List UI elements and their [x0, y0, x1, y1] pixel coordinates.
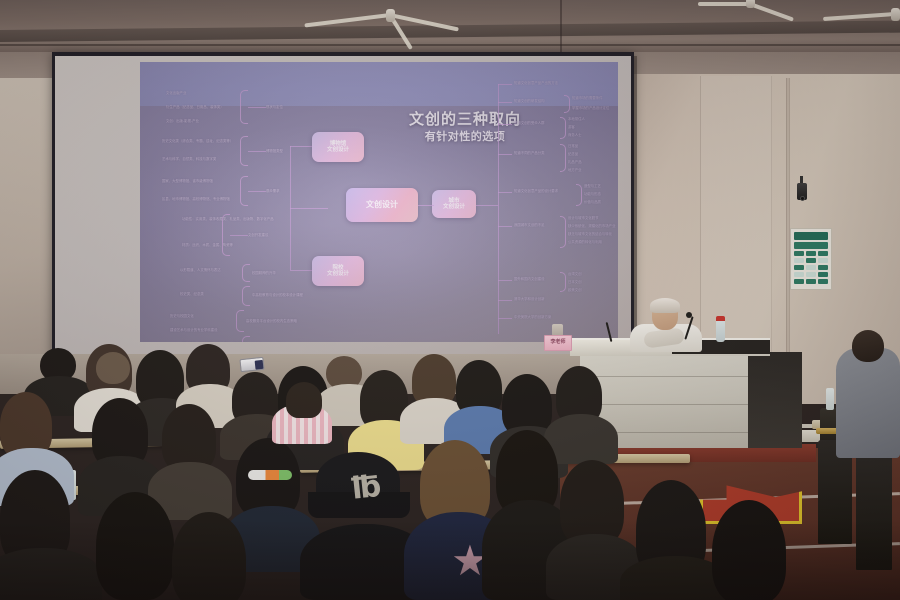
- leaf-sub: 地方产业: [568, 168, 582, 173]
- ceiling-seam-horizontal: [0, 44, 900, 46]
- connector-line: [290, 146, 312, 147]
- ceiling-fan: [820, 2, 900, 22]
- leaf-item: 我国城市文创的不足: [514, 223, 545, 228]
- connector-line: [248, 151, 266, 152]
- group-bracket: [560, 272, 566, 292]
- leaf-sub: 造型与工艺: [584, 184, 601, 189]
- audience-head: [96, 352, 130, 384]
- audience-head: [286, 382, 322, 418]
- attendee-gray-suit: [836, 348, 900, 458]
- audience-head: [172, 512, 246, 600]
- slide-title: 文创的三种取向: [350, 108, 580, 129]
- leaf-item: 衍生产品（纪念品、日用品、装饰类）: [166, 105, 224, 110]
- leaf-sub: 缺少系统化、规模化的市场产业: [568, 224, 615, 229]
- group-bracket: [242, 286, 250, 306]
- connector-line: [290, 208, 328, 209]
- connector-line: [498, 102, 512, 103]
- auditorium-seat: [856, 452, 892, 570]
- group-bracket: [560, 216, 566, 248]
- cap-logo: ℔: [350, 468, 388, 511]
- leaf-item: 历史文化类（综合类、专题、遗址、纪念类等）: [162, 139, 233, 144]
- water-bottle: [716, 320, 725, 342]
- connector-line: [476, 205, 498, 206]
- group-label: 博物馆类型: [266, 149, 283, 154]
- projection-screen: 文创的三种取向 有针对性的选项 现状与定位 博物馆类型 观众需求 文创开发建议 …: [52, 52, 634, 358]
- audience-shoulders: [0, 548, 102, 600]
- leaf-item: 清华大学和设计创新: [514, 297, 545, 302]
- connector-line: [498, 280, 512, 281]
- ceiling-fan: [300, 2, 480, 24]
- leaf-sub: 价值与品质: [584, 200, 601, 205]
- connector-line: [498, 226, 512, 227]
- hair-clip: [248, 470, 292, 480]
- connector-line: [498, 154, 512, 155]
- attendee-head: [852, 330, 884, 362]
- leaf-item: 知道不同的产品分类: [514, 151, 545, 156]
- leaf-item: 功能性：实用类、装饰收藏类、礼品类、出版物、数字化产品: [182, 217, 274, 222]
- leaf-item: 建设艺术与设计的专业学科建设: [170, 328, 217, 333]
- leaf-sub: 掌握市场的产品设计定位: [572, 106, 609, 111]
- projected-slide: 文创的三种取向 有针对性的选项 现状与定位 博物馆类型 观众需求 文创开发建议 …: [140, 62, 618, 342]
- group-label: 现状与定位: [266, 105, 283, 110]
- water-bottle: [826, 388, 834, 410]
- group-bracket: [242, 264, 250, 282]
- connector-line: [418, 205, 434, 206]
- podium-side-panel: [748, 352, 802, 448]
- leaf-item: 文创：出版-影视-产业: [166, 119, 199, 124]
- branch-node-museum: 博物馆 文创设计: [312, 132, 364, 162]
- leaf-sub: 礼品产品: [568, 160, 582, 165]
- group-label: 观众需求: [266, 189, 280, 194]
- leaf-item: 国家、大型博物馆、省市级博物馆: [162, 179, 213, 184]
- leaf-sub: 知道市场的需要条件: [572, 96, 603, 101]
- leaf-item: 校史类、纪念类: [180, 292, 204, 297]
- group-bracket: [564, 95, 570, 113]
- leaf-item: 以形载道、人文情怀与表达: [180, 268, 221, 273]
- leaf-sub: 缺乏与城市文化的结合与转化: [568, 232, 612, 237]
- connector-line: [248, 107, 266, 108]
- center-node: 文创设计: [346, 188, 418, 222]
- leaf-sub: 欧美文创: [568, 288, 582, 293]
- group-bracket: [560, 117, 566, 139]
- connector-line: [498, 300, 512, 301]
- group-bracket: [576, 184, 582, 206]
- audience-head: [96, 492, 174, 600]
- leaf-sub: 商务人士: [568, 133, 582, 138]
- leaf-item: 知道文创的研发结构: [514, 99, 545, 104]
- leaf-item: 知道文创的受众人群: [514, 121, 545, 126]
- group-bracket: [240, 136, 248, 166]
- group-label: 中高校教育与设计的校本设计课程: [252, 293, 303, 298]
- leaf-item: 区县、地市博物馆、高校博物馆、专业博物馆: [162, 197, 230, 202]
- leaf-item: 知道文化创意产品的设计要求: [514, 189, 558, 194]
- connector-line: [230, 235, 248, 236]
- leaf-item: 文化出版产业: [166, 91, 186, 96]
- connector-line: [498, 124, 512, 125]
- bottle-cap: [716, 316, 725, 321]
- speaker-hair: [650, 298, 680, 313]
- name-placard-label: 李老师: [544, 338, 572, 345]
- group-label: 校园精神的升华: [252, 271, 276, 276]
- slide-subtitle: 有针对性的选项: [350, 128, 580, 144]
- emergency-notice-poster: [790, 228, 832, 290]
- group-label: 文创开发建议: [248, 233, 268, 238]
- camera-lens-icon: [800, 196, 805, 201]
- leaf-item: 历史与校园文化: [170, 314, 194, 319]
- leaf-item: 艺术与科学、自然类、科技与数字类: [162, 157, 216, 162]
- leaf-sub: 游客: [568, 125, 575, 130]
- connector-line: [498, 192, 512, 193]
- group-bracket: [240, 90, 248, 124]
- leaf-sub: 日常品: [568, 144, 578, 149]
- leaf-item: 国外和国内文创建设: [514, 277, 545, 282]
- connector-line: [290, 270, 312, 271]
- lecture-hall-photo: 文创的三种取向 有针对性的选项 现状与定位 博物馆类型 观众需求 文创开发建议 …: [0, 0, 900, 600]
- group-label: 高校服务平台设计的校内生态策略: [246, 319, 297, 324]
- smartphone-camera: [239, 357, 264, 372]
- group-bracket: [240, 176, 248, 206]
- connector-line: [290, 146, 291, 270]
- connector-line: [498, 84, 499, 334]
- leaf-item: 材质：丝织、木质、金属、陶瓷等: [182, 243, 233, 248]
- leaf-item: 知道文化创意产品产出的方法: [514, 81, 558, 86]
- ceiling-fan: [690, 0, 810, 10]
- group-bracket: [560, 144, 566, 172]
- connector-line: [248, 191, 266, 192]
- leaf-sub: 公共资源的转化与利用: [568, 240, 602, 245]
- audience-head: [712, 500, 786, 600]
- branch-node-city: 城市 文创设计: [432, 190, 476, 218]
- leaf-sub: 日本文创: [568, 280, 582, 285]
- connector-line: [498, 84, 512, 85]
- connector-line: [498, 318, 512, 319]
- leaf-sub: 设计与城市文化脱节: [568, 216, 599, 221]
- microphone-head-icon: [686, 312, 692, 318]
- leaf-sub: 功能与形态: [584, 192, 601, 197]
- leaf-sub: 本地常住人: [568, 117, 585, 122]
- leaf-sub: 台湾文创: [568, 272, 582, 277]
- branch-node-academy: 院校 文创设计: [312, 256, 364, 286]
- leaf-sub: 纪念品: [568, 152, 578, 157]
- group-bracket: [236, 310, 244, 332]
- leaf-item: 中央美院大学的创新方案: [514, 315, 551, 320]
